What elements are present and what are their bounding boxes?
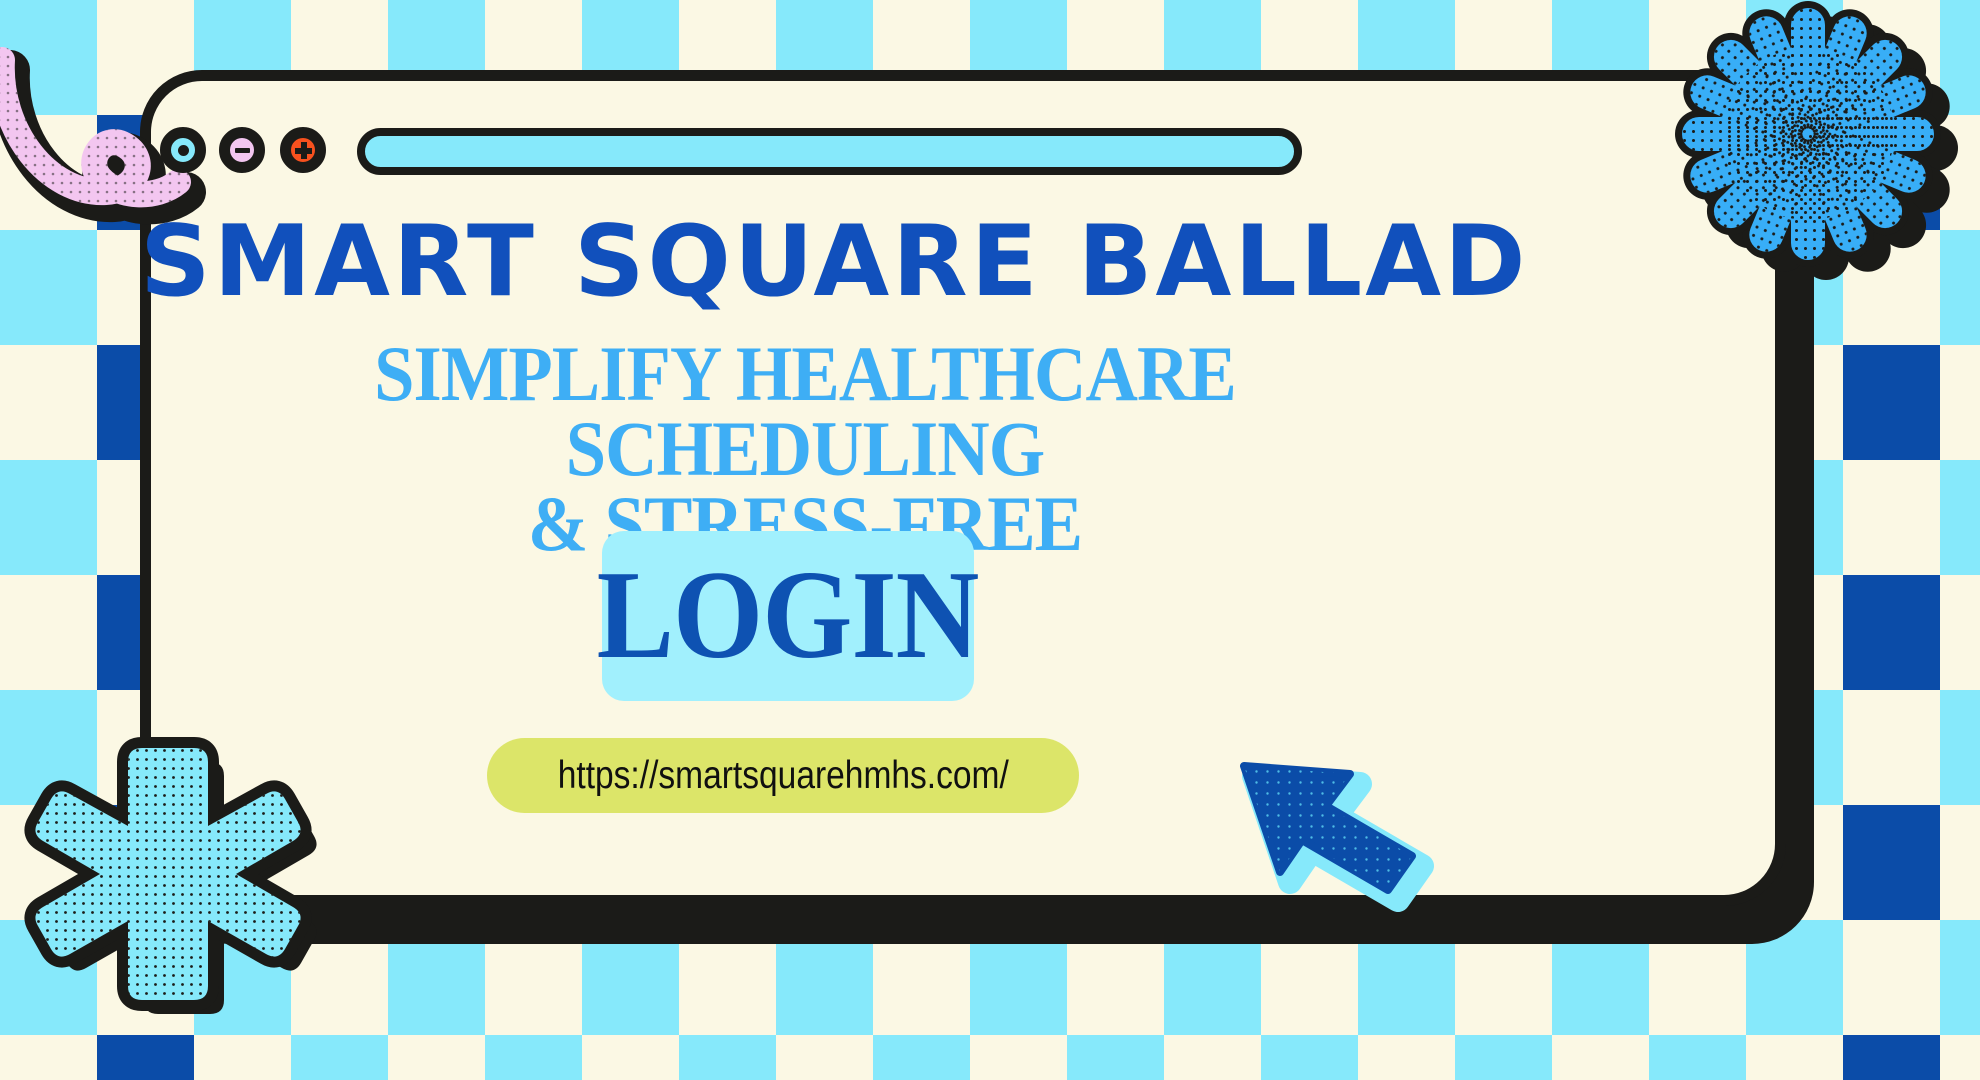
flower-burst-icon: [1636, 0, 1966, 289]
circle-icon: [178, 145, 189, 156]
background-square: [1649, 1035, 1746, 1080]
page-subtitle: SIMPLIFY HEALTHCARE SCHEDULING & STRESS-…: [187, 337, 1424, 562]
background-square: [1843, 575, 1940, 690]
background-square: [1261, 1035, 1358, 1080]
background-square: [1843, 805, 1940, 920]
url-pill[interactable]: https://smartsquarehmhs.com/: [487, 738, 1079, 813]
address-bar-input[interactable]: [357, 128, 1302, 175]
background-square: [485, 1035, 582, 1080]
background-square: [679, 1035, 776, 1080]
background-square: [1940, 920, 1980, 1035]
background-square: [291, 1035, 388, 1080]
background-square: [0, 230, 97, 345]
window-control-close-button[interactable]: [280, 127, 326, 173]
window-control-minimize-button[interactable]: [219, 127, 265, 173]
cursor-arrow-icon: [1232, 758, 1462, 943]
minus-icon: [235, 148, 250, 153]
background-square: [1940, 460, 1980, 575]
background-square: [1843, 345, 1940, 460]
poster-canvas: SMART SQUARE BALLAD SIMPLIFY HEALTHCARE …: [0, 0, 1980, 1080]
background-square: [97, 1035, 194, 1080]
pink-squiggle-icon: [0, 12, 248, 237]
url-text: https://smartsquarehmhs.com/: [557, 754, 1008, 798]
background-square: [1455, 1035, 1552, 1080]
background-square: [1843, 1035, 1940, 1080]
background-square: [0, 460, 97, 575]
plus-icon: [295, 142, 312, 159]
login-button[interactable]: LOGIN: [602, 531, 974, 701]
asterisk-star-icon: [18, 730, 318, 1035]
background-square: [1067, 1035, 1164, 1080]
subtitle-line-1: SIMPLIFY HEALTHCARE SCHEDULING: [187, 337, 1424, 487]
background-square: [1940, 690, 1980, 805]
page-title: SMART SQUARE BALLAD: [140, 213, 1460, 311]
background-square: [873, 1035, 970, 1080]
login-button-label: LOGIN: [597, 553, 979, 679]
window-control-circle-button[interactable]: [160, 127, 206, 173]
